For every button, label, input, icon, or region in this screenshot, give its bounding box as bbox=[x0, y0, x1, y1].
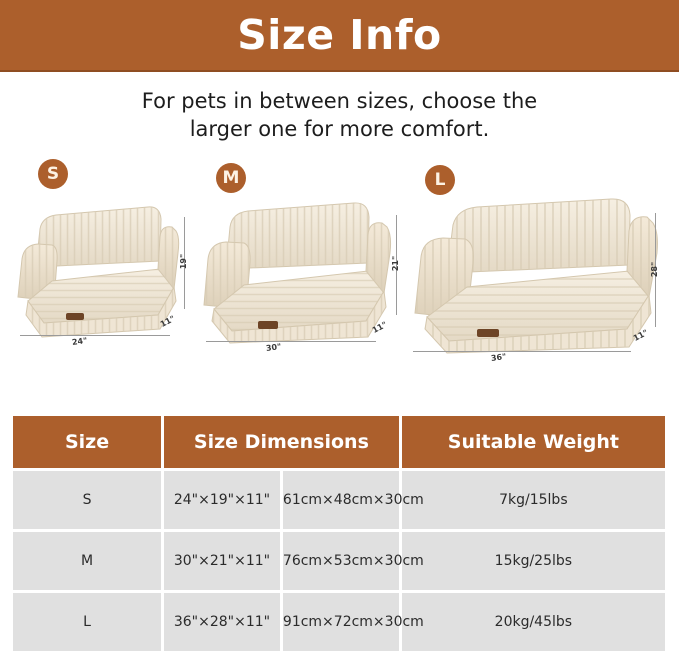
product-size-l: L bbox=[405, 153, 675, 359]
product-size-illustrations: S bbox=[0, 153, 679, 383]
size-badge-m: M bbox=[216, 163, 246, 193]
width-guide-m bbox=[206, 341, 376, 342]
pet-bed-graphic-l bbox=[405, 195, 675, 355]
size-badge-s: S bbox=[38, 159, 68, 189]
size-table-header: Size Size Dimensions Suitable Weight bbox=[13, 416, 665, 468]
header-banner: Size Info bbox=[0, 0, 679, 72]
size-badge-l: L bbox=[425, 165, 455, 195]
page-title: Size Info bbox=[237, 15, 441, 56]
table-header-row: Size Size Dimensions Suitable Weight bbox=[13, 416, 665, 468]
brand-tag-l bbox=[477, 329, 499, 337]
cell-weight: 7kg/15lbs bbox=[402, 471, 665, 529]
table-row: S 24"×19"×11" 61cm×48cm×30cm 7kg/15lbs bbox=[13, 471, 665, 529]
subtitle-line-1: For pets in between sizes, choose the bbox=[60, 88, 620, 116]
table-row: M 30"×21"×11" 76cm×53cm×30cm 15kg/25lbs bbox=[13, 532, 665, 590]
dimension-height-s: 19" bbox=[179, 254, 188, 269]
column-header-weight: Suitable Weight bbox=[402, 416, 665, 468]
dimension-width-s: 24" bbox=[71, 336, 87, 347]
size-table-body: S 24"×19"×11" 61cm×48cm×30cm 7kg/15lbs M… bbox=[13, 471, 665, 651]
brand-tag-s bbox=[66, 313, 84, 320]
cell-size: M bbox=[13, 532, 161, 590]
column-header-dimensions: Size Dimensions bbox=[164, 416, 399, 468]
cell-weight: 15kg/25lbs bbox=[402, 532, 665, 590]
column-header-size: Size bbox=[13, 416, 161, 468]
width-guide-l bbox=[413, 351, 631, 352]
size-table: Size Size Dimensions Suitable Weight S 2… bbox=[10, 413, 668, 654]
subtitle: For pets in between sizes, choose the la… bbox=[60, 88, 620, 143]
cell-size: S bbox=[13, 471, 161, 529]
dimension-width-l: 36" bbox=[490, 352, 506, 363]
cell-dimensions-inches: 24"×19"×11" bbox=[164, 471, 280, 529]
bed-illustration-l: 28" 36" 11" bbox=[405, 195, 675, 359]
cell-dimensions-cm: 91cm×72cm×30cm bbox=[283, 593, 399, 651]
dimension-height-m: 21" bbox=[391, 256, 400, 271]
table-row: L 36"×28"×11" 91cm×72cm×30cm 20kg/45lbs bbox=[13, 593, 665, 651]
cell-dimensions-inches: 30"×21"×11" bbox=[164, 532, 280, 590]
cell-dimensions-cm: 76cm×53cm×30cm bbox=[283, 532, 399, 590]
bed-illustration-m: 21" 30" 11" bbox=[196, 193, 411, 349]
dimension-height-l: 28" bbox=[650, 262, 659, 277]
cell-dimensions-inches: 36"×28"×11" bbox=[164, 593, 280, 651]
width-guide-s bbox=[20, 335, 170, 336]
dimension-width-m: 30" bbox=[265, 342, 281, 353]
bed-illustration-s: 19" 24" 11" bbox=[8, 189, 198, 343]
product-size-m: M bbox=[196, 153, 411, 349]
cell-size: L bbox=[13, 593, 161, 651]
brand-tag-m bbox=[258, 321, 278, 329]
product-size-s: S bbox=[8, 153, 198, 343]
cell-dimensions-cm: 61cm×48cm×30cm bbox=[283, 471, 399, 529]
cell-weight: 20kg/45lbs bbox=[402, 593, 665, 651]
subtitle-line-2: larger one for more comfort. bbox=[60, 116, 620, 144]
